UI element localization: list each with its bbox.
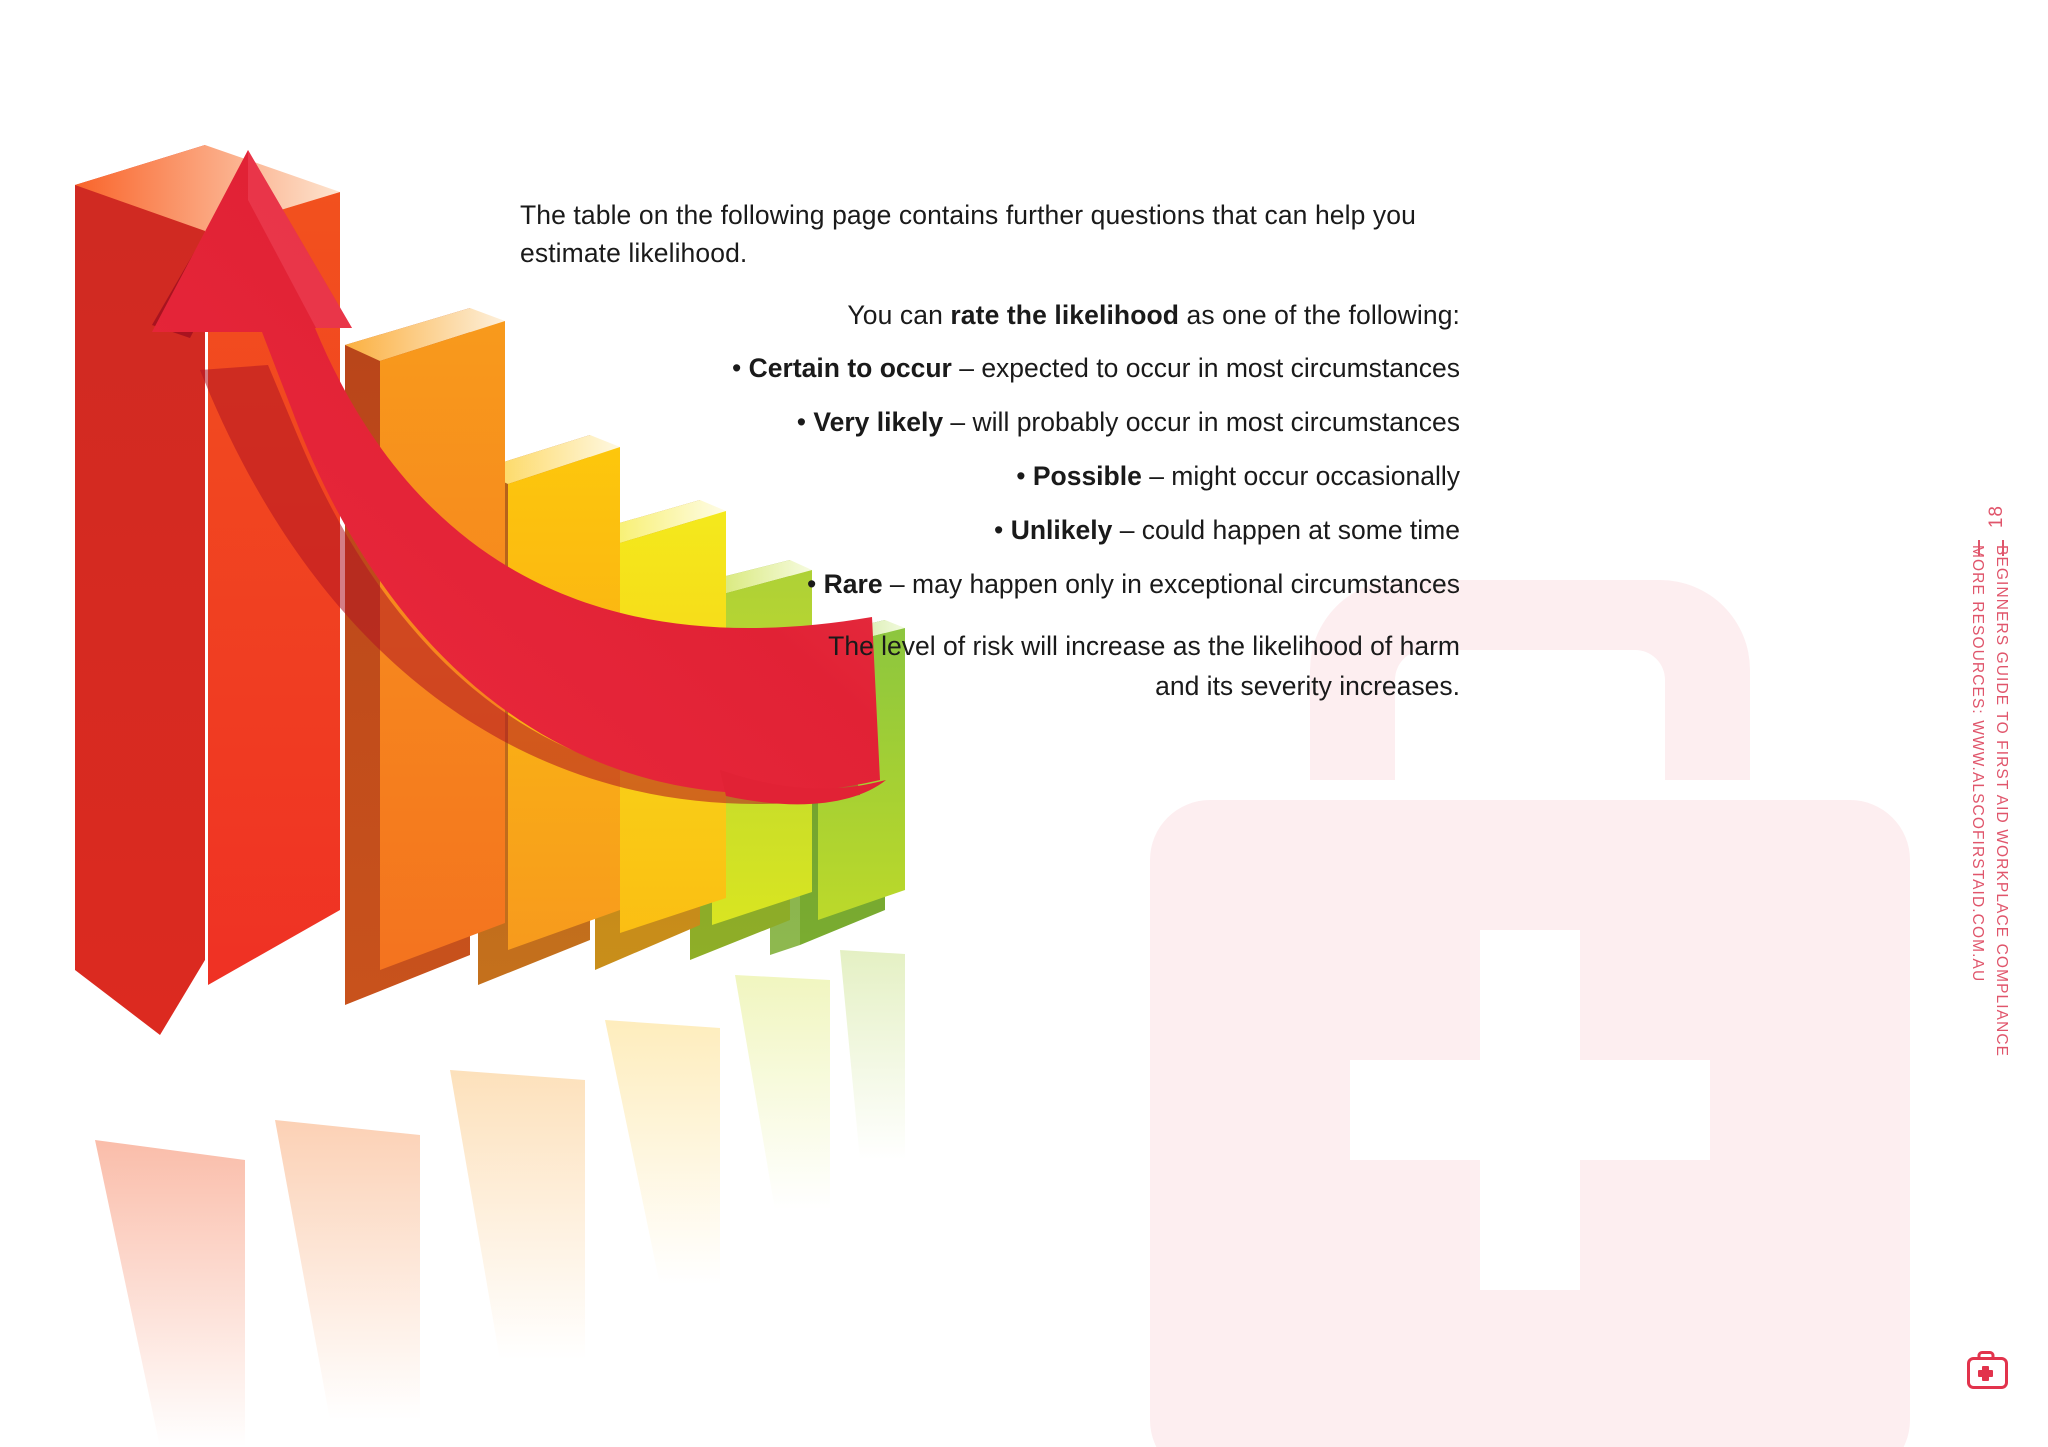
first-aid-kit-icon: [1966, 1349, 2012, 1391]
rail-guide-title: BEGINNERS GUIDE TO FIRST AID WORKPLACE C…: [1992, 545, 2010, 1057]
intro-paragraph: The table on the following page contains…: [520, 196, 1460, 272]
bullet-desc: – could happen at some time: [1112, 515, 1460, 545]
likelihood-bullet-certain: • Certain to occur – expected to occur i…: [520, 348, 1460, 388]
bullet-term: Unlikely: [1011, 515, 1113, 545]
bullet-desc: – will probably occur in most circumstan…: [943, 407, 1460, 437]
likelihood-bullet-possible: • Possible – might occur occasionally: [520, 456, 1460, 496]
intro-line-2: estimate likelihood.: [520, 238, 747, 268]
bullet-marker: •: [797, 407, 814, 437]
bullet-desc: – may happen only in exceptional circums…: [883, 569, 1460, 599]
rail-resources-url: MORE RESOURCES: WWW.ALSCOFIRSTAID.COM.AU: [1968, 545, 1986, 982]
bullet-term: Certain to occur: [749, 353, 952, 383]
bar-reflections: [95, 950, 905, 1447]
intro-line-1: The table on the following page contains…: [520, 200, 1416, 230]
closing-line-2: and its severity increases.: [520, 666, 1460, 706]
likelihood-bullet-rare: • Rare – may happen only in exceptional …: [520, 564, 1460, 604]
bullet-marker: •: [732, 353, 749, 383]
bullet-marker: •: [807, 569, 824, 599]
bullet-term: Possible: [1033, 461, 1142, 491]
bullet-term: Rare: [824, 569, 883, 599]
lead-bold: rate the likelihood: [950, 300, 1179, 330]
bar-1: [75, 145, 340, 1035]
bullet-marker: •: [994, 515, 1011, 545]
document-page: The table on the following page contains…: [0, 0, 2048, 1447]
page-number: 18: [1986, 505, 2008, 528]
bar-2: [345, 308, 505, 1005]
closing-paragraph: The level of risk will increase as the l…: [520, 626, 1460, 706]
closing-line-1: The level of risk will increase as the l…: [828, 631, 1460, 661]
likelihood-bullet-unlikely: • Unlikely – could happen at some time: [520, 510, 1460, 550]
bullet-desc: – might occur occasionally: [1142, 461, 1460, 491]
bullet-term: Very likely: [813, 407, 943, 437]
bullet-marker: •: [1016, 461, 1033, 491]
bullet-desc: – expected to occur in most circumstance…: [952, 353, 1460, 383]
body-text-column: The table on the following page contains…: [520, 196, 1460, 706]
likelihood-bullet-very-likely: • Very likely – will probably occur in m…: [520, 402, 1460, 442]
lead-suffix: as one of the following:: [1179, 300, 1460, 330]
lead-prefix: You can: [847, 300, 950, 330]
lead-in-line: You can rate the likelihood as one of th…: [520, 296, 1460, 334]
page-side-rail: 18 BEGINNERS GUIDE TO FIRST AID WORKPLAC…: [1950, 0, 2030, 1447]
